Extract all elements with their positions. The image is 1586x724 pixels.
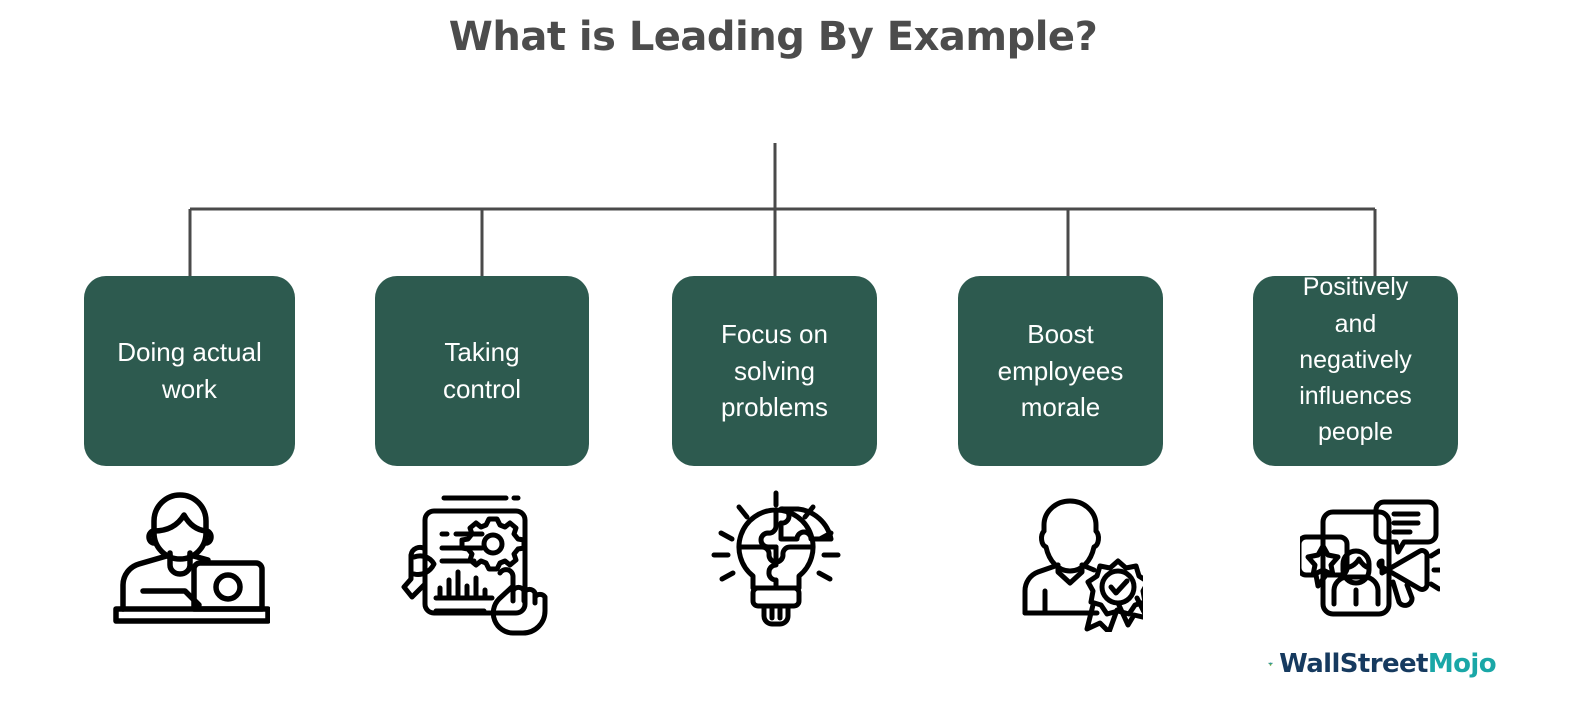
node-box-doing-actual-work[interactable]: Doing actual work	[84, 276, 295, 466]
tablet-gear-hand-icon	[396, 487, 556, 637]
node-box-positively-and-negatively-influences-people[interactable]: Positively and negatively influences peo…	[1253, 276, 1458, 466]
node-label: Focus on solving problems	[715, 316, 834, 427]
puzzle-lightbulb-icon	[706, 487, 846, 627]
person-award-badge-icon	[998, 487, 1143, 632]
page-title: What is Leading By Example?	[0, 14, 1546, 60]
node-box-focus-on-solving-problems[interactable]: Focus on solving problems	[672, 276, 877, 466]
phone-megaphone-social-icon	[1300, 490, 1440, 625]
brand-wordmark: WallStreetMojo	[1279, 649, 1496, 679]
brand-wordmark-secondary: Mojo	[1428, 649, 1496, 679]
bull-with-tophat-icon	[1268, 639, 1273, 689]
brand-logo[interactable]: WallStreetMojo	[1268, 639, 1496, 689]
node-label: Doing actual work	[111, 334, 268, 408]
node-box-taking-control[interactable]: Taking control	[375, 276, 589, 466]
brand-wordmark-primary: WallStreet	[1279, 649, 1428, 679]
infographic-canvas: What is Leading By Example? Doing actual…	[0, 0, 1586, 724]
person-at-laptop-icon	[110, 487, 270, 627]
node-label: Boost employees morale	[992, 316, 1130, 427]
node-label: Positively and negatively influences peo…	[1293, 269, 1418, 450]
node-label: Taking control	[437, 334, 527, 408]
node-box-boost-employees-morale[interactable]: Boost employees morale	[958, 276, 1163, 466]
